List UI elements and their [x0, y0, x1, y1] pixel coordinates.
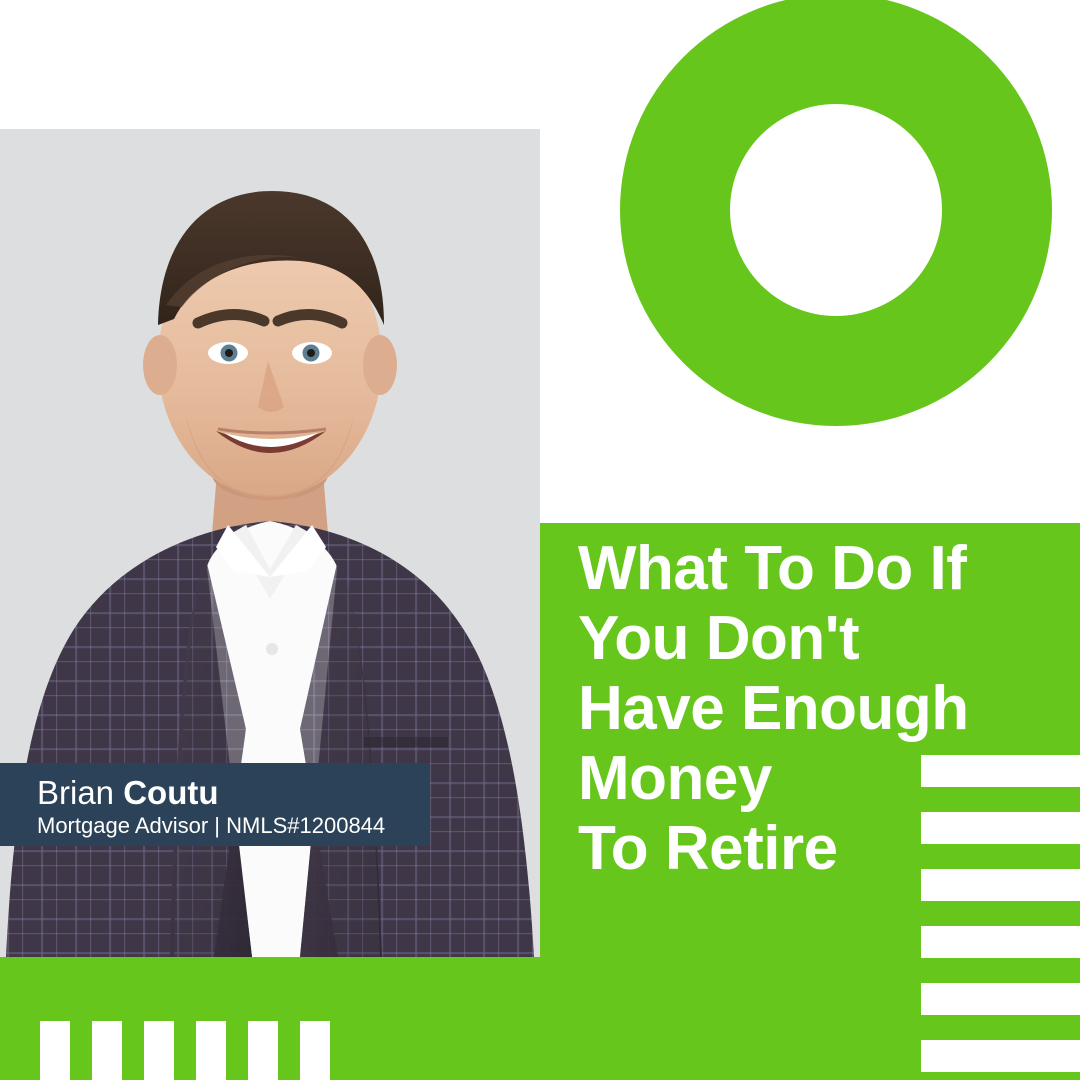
vertical-stripe	[196, 1021, 226, 1080]
vertical-stripe	[248, 1021, 278, 1080]
vertical-stripe	[300, 1021, 330, 1080]
social-graphic-canvas: What To Do If You Don't Have Enough Mone…	[0, 0, 1080, 1080]
donut-hole	[730, 104, 942, 316]
vertical-stripe	[40, 1021, 70, 1080]
advisor-name: Brian Coutu	[37, 774, 430, 812]
name-badge: Brian Coutu Mortgage Advisor | NMLS#1200…	[0, 763, 430, 846]
horizontal-stripe	[921, 869, 1080, 901]
vertical-stripe	[144, 1021, 174, 1080]
horizontal-stripe	[921, 755, 1080, 787]
headline-line-2: You Don't	[578, 604, 1048, 674]
vertical-stripe-decor	[40, 1021, 330, 1080]
horizontal-stripe	[921, 812, 1080, 844]
brand-donut-icon	[620, 0, 1052, 426]
advisor-last-name: Coutu	[123, 774, 218, 811]
headline-line-1: What To Do If	[578, 534, 1048, 604]
horizontal-stripe	[921, 983, 1080, 1015]
advisor-role: Mortgage Advisor | NMLS#1200844	[37, 812, 430, 840]
horizontal-stripe	[921, 1040, 1080, 1072]
headline-line-3: Have Enough	[578, 674, 1048, 744]
horizontal-stripe-decor	[921, 755, 1080, 1045]
horizontal-stripe	[921, 926, 1080, 958]
vertical-stripe	[92, 1021, 122, 1080]
advisor-first-name: Brian	[37, 774, 123, 811]
